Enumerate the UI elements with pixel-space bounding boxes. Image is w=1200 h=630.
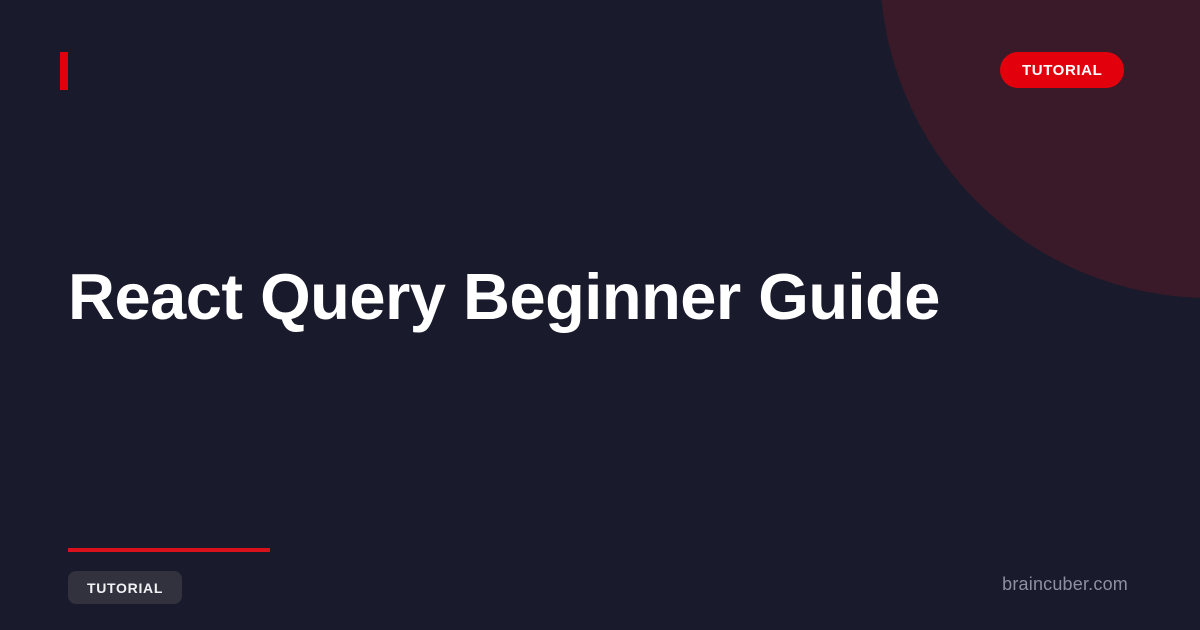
category-chip-label: TUTORIAL [87,580,163,596]
category-chip-bottom[interactable]: TUTORIAL [68,571,182,604]
page-title: React Query Beginner Guide [68,262,1068,332]
tutorial-badge-top-label: TUTORIAL [1022,62,1102,79]
site-watermark: braincuber.com [1002,574,1128,595]
red-divider-rule [68,548,270,552]
red-accent-bar-icon [60,52,68,90]
social-share-card: TUTORIAL React Query Beginner Guide TUTO… [0,0,1200,630]
tutorial-badge-top[interactable]: TUTORIAL [1000,52,1124,88]
decorative-circle [880,0,1200,298]
